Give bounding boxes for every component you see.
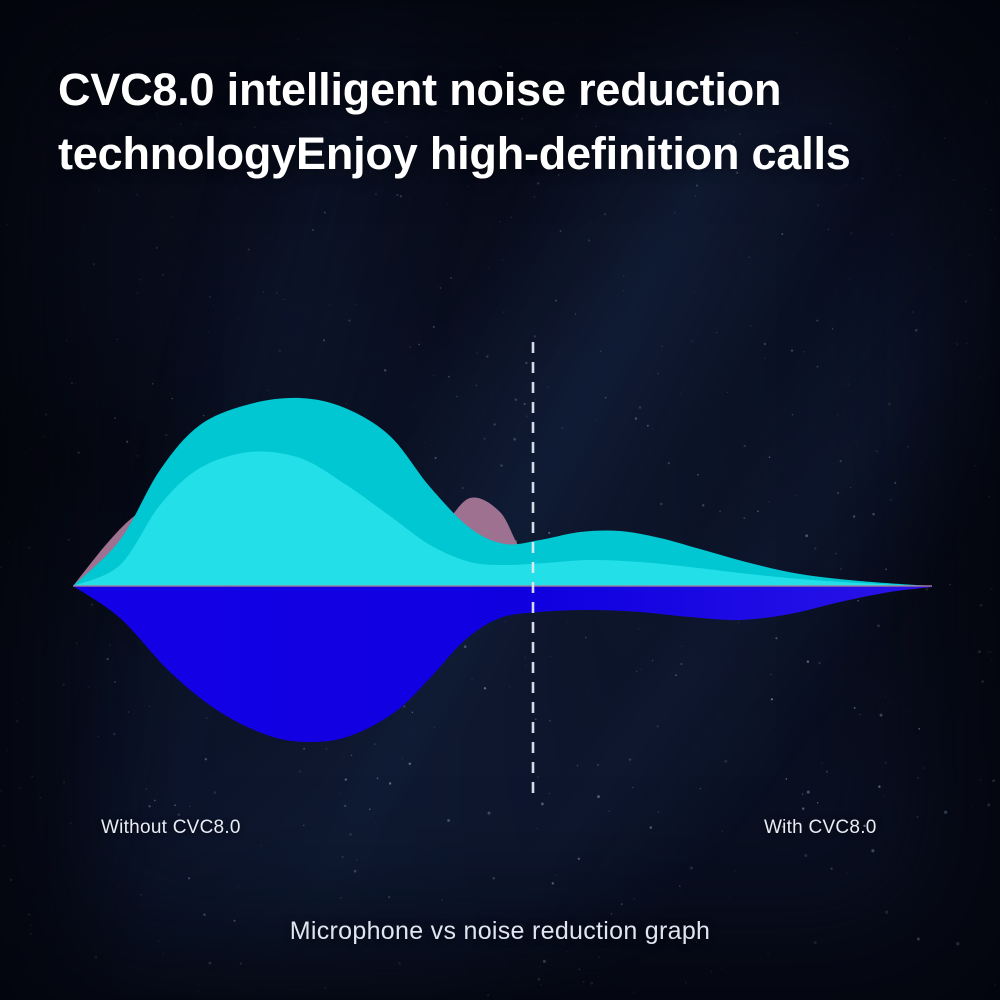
waveform-chart (0, 0, 1000, 1000)
series-output-lower (73, 586, 932, 742)
series-layers (73, 398, 932, 742)
chart-caption: Microphone vs noise reduction graph (0, 917, 1000, 946)
label-with-cvc: With CVC8.0 (764, 817, 877, 839)
poster-canvas: CVC8.0 intelligent noise reduction techn… (0, 0, 1000, 1000)
label-without-cvc: Without CVC8.0 (101, 817, 241, 839)
